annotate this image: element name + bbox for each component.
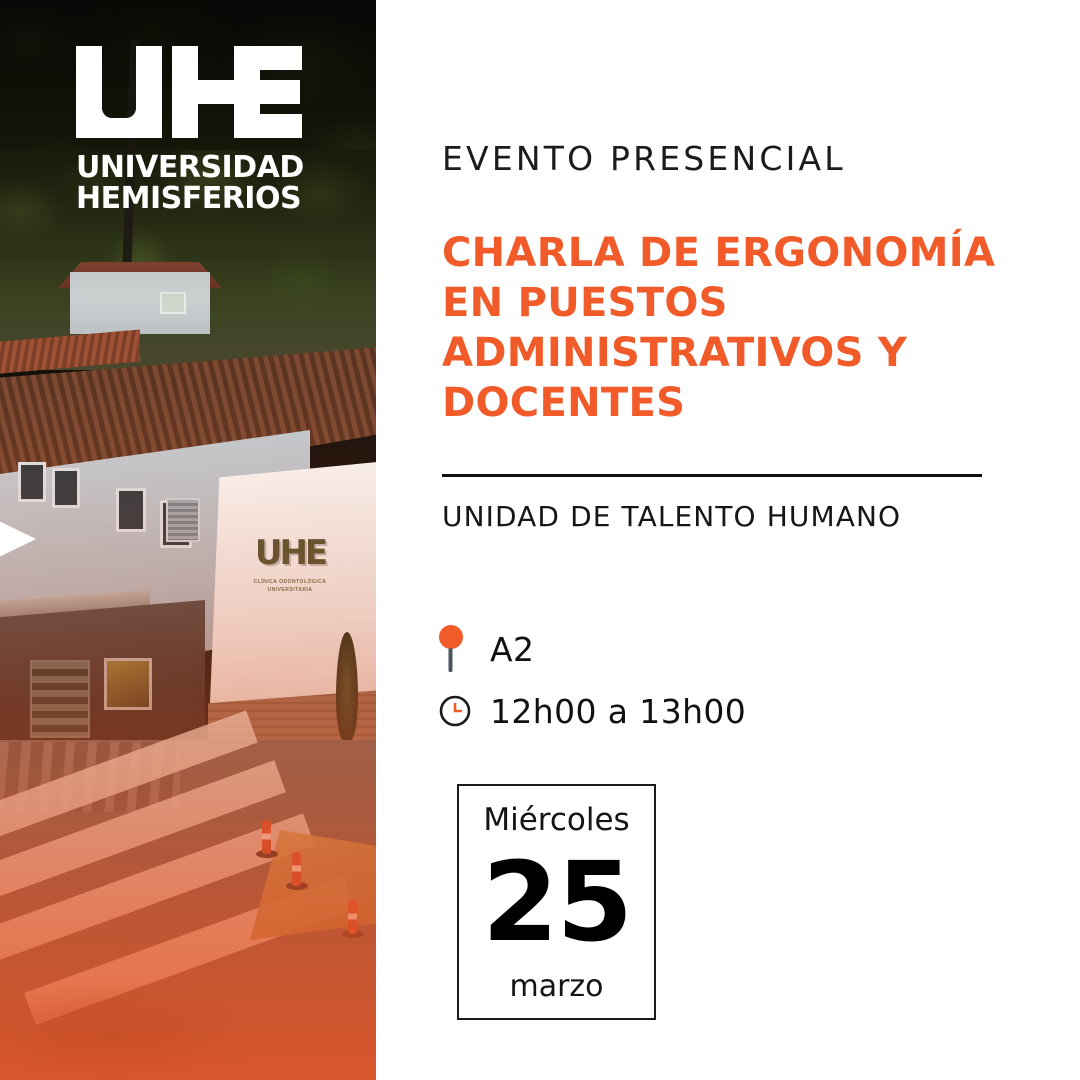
brand-logo-lockup: UNIVERSIDAD HEMISFERIOS bbox=[76, 46, 326, 214]
media-panel: UHE CLÍNICA ODONTOLÓGICA UNIVERSITARIA bbox=[0, 0, 376, 1080]
event-poster: UHE CLÍNICA ODONTOLÓGICA UNIVERSITARIA bbox=[0, 0, 1080, 1080]
organizer-department: UNIDAD DE TALENTO HUMANO bbox=[442, 500, 901, 533]
date-month: marzo bbox=[509, 969, 603, 1004]
date-weekday: Miércoles bbox=[483, 802, 629, 838]
event-headline: CHARLA DE ERGONOMÍA EN PUESTOS ADMINISTR… bbox=[442, 228, 1002, 428]
meta-row-time: 12h00 a 13h00 bbox=[438, 680, 746, 742]
event-meta-list: A2 12h00 a 13h00 bbox=[438, 618, 746, 742]
play-triangle-icon[interactable] bbox=[0, 505, 36, 573]
date-day-number: 25 bbox=[482, 850, 631, 954]
brand-name-line1: UNIVERSIDAD bbox=[76, 152, 326, 183]
uhe-logo-icon bbox=[76, 46, 302, 138]
meta-time-label: 12h00 a 13h00 bbox=[490, 692, 746, 731]
content-panel: EVENTO PRESENCIAL CHARLA DE ERGONOMÍA EN… bbox=[376, 0, 1080, 1080]
meta-location-label: A2 bbox=[490, 630, 534, 669]
brand-name: UNIVERSIDAD HEMISFERIOS bbox=[76, 152, 326, 214]
clock-icon bbox=[438, 694, 490, 728]
content-divider bbox=[442, 474, 982, 477]
event-kicker: EVENTO PRESENCIAL bbox=[442, 139, 846, 178]
location-pin-icon bbox=[438, 624, 490, 674]
event-date-card: Miércoles 25 marzo bbox=[457, 784, 656, 1020]
meta-row-location: A2 bbox=[438, 618, 746, 680]
brand-name-line2: HEMISFERIOS bbox=[76, 183, 326, 214]
